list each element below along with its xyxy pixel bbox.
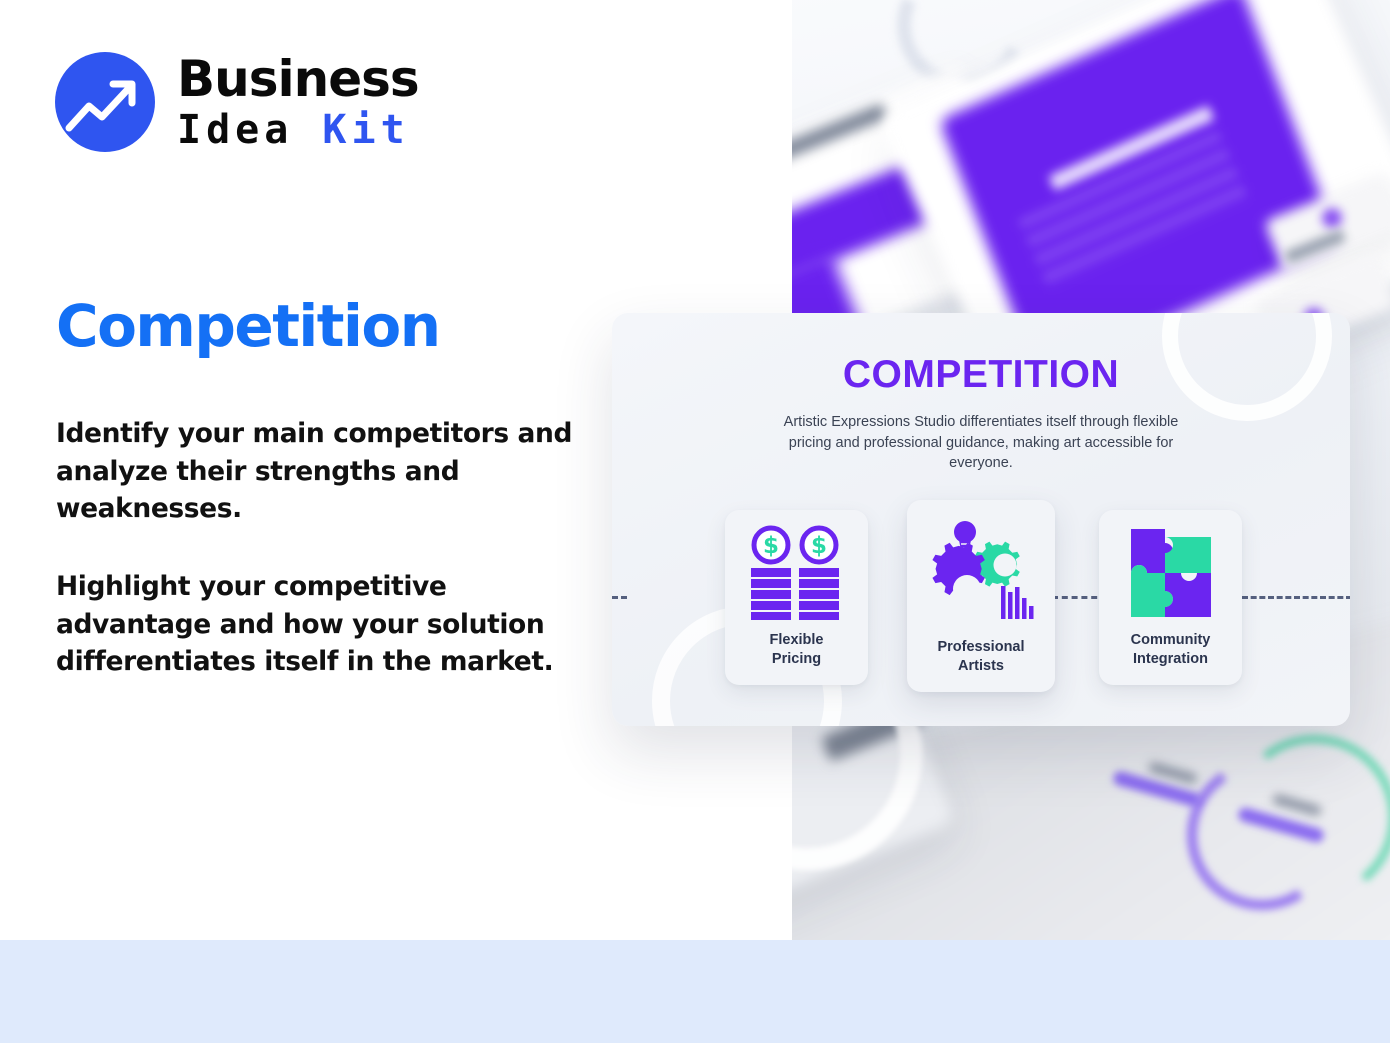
svg-text:$: $ xyxy=(810,533,826,559)
trend-arrow-icon xyxy=(55,52,155,152)
feature-tile-label: Flexible Pricing xyxy=(770,631,824,685)
connector-dash-left xyxy=(612,596,627,599)
card-subtitle: Artistic Expressions Studio differentiat… xyxy=(766,412,1196,474)
brand-line-idea-kit: Idea Kit xyxy=(177,110,419,150)
page-title: Competition xyxy=(56,296,440,357)
bottom-accent-strip xyxy=(0,940,1390,1043)
card-title: COMPETITION xyxy=(612,353,1350,397)
feature-tile-label: Community Integration xyxy=(1131,631,1211,685)
body-paragraph-1: Identify your main competitors and analy… xyxy=(56,415,576,528)
puzzle-pieces-icon xyxy=(1125,510,1217,631)
feature-tile-label: Professional Artists xyxy=(937,638,1024,692)
feature-tiles-row: $ $ xyxy=(612,500,1350,696)
connector-dash-right xyxy=(1242,596,1350,599)
brand-word-kit: Kit xyxy=(322,107,409,153)
feature-tile-community-integration[interactable]: Community Integration xyxy=(1099,510,1242,685)
brand-wordmark: Business Idea Kit xyxy=(177,54,419,150)
coin-stacks-icon: $ $ xyxy=(747,510,847,631)
bg-chip-one-dot xyxy=(1322,208,1342,228)
svg-text:$: $ xyxy=(762,533,778,559)
body-paragraph-2: Highlight your competitive advantage and… xyxy=(56,568,576,681)
body-copy: Identify your main competitors and analy… xyxy=(56,415,576,681)
brand-line-business: Business xyxy=(177,54,419,104)
slide-page: Business Idea Kit Competition Identify y… xyxy=(0,0,1390,1043)
brand-lockup: Business Idea Kit xyxy=(55,52,419,152)
competition-preview-card[interactable]: COMPETITION Artistic Expressions Studio … xyxy=(612,313,1350,726)
feature-tile-flexible-pricing[interactable]: $ $ xyxy=(725,510,868,685)
brand-word-idea: Idea xyxy=(177,107,293,153)
gears-lightbulb-chart-icon xyxy=(925,500,1037,638)
feature-tile-professional-artists[interactable]: Professional Artists xyxy=(907,500,1055,692)
